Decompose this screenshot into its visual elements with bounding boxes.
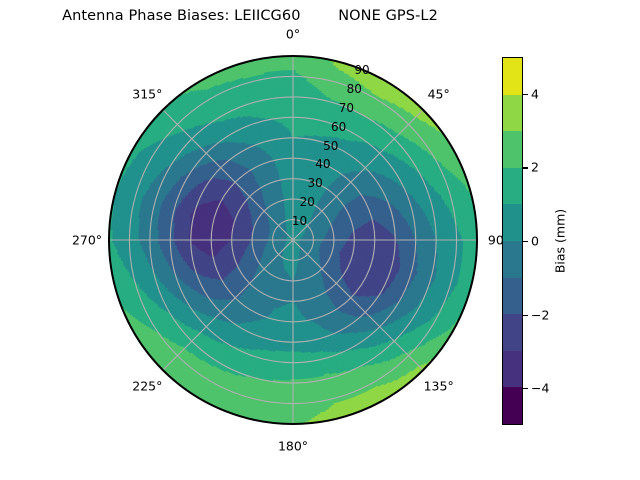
- radial-tick-40: 40: [315, 157, 330, 171]
- colorbar-band: [503, 351, 522, 388]
- colorbar-ticklabel: −2: [531, 307, 549, 322]
- angular-tick-180: 180°: [278, 439, 308, 454]
- colorbar-band: [503, 204, 522, 241]
- colorbar-band: [503, 95, 522, 132]
- angular-tick-0: 0°: [286, 27, 300, 42]
- radial-tick-60: 60: [331, 120, 346, 134]
- polar-contour-svg: [108, 55, 478, 425]
- angular-tick-315: 315°: [132, 87, 162, 102]
- radial-tick-90: 90: [354, 63, 369, 77]
- colorbar-band: [503, 314, 522, 351]
- colorbar-tickmark: [523, 388, 528, 389]
- polar-grid-layer: [109, 56, 477, 424]
- colorbar-label: Bias (mm): [553, 209, 568, 273]
- radial-tick-30: 30: [307, 176, 322, 190]
- radial-tick-50: 50: [323, 139, 338, 153]
- radial-tick-70: 70: [339, 101, 354, 115]
- colorbar-tickmark: [523, 315, 528, 316]
- colorbar-band: [503, 131, 522, 168]
- colorbar-ticklabel: 0: [531, 234, 539, 249]
- angular-tick-135: 135°: [424, 378, 454, 393]
- colorbar: [502, 57, 523, 425]
- colorbar-band: [503, 241, 522, 278]
- angular-tick-225: 225°: [132, 378, 162, 393]
- colorbar-band: [503, 387, 522, 424]
- colorbar-ticklabel: 4: [531, 86, 539, 101]
- colorbar-tickmark: [523, 241, 528, 242]
- colorbar-ticklabel: 2: [531, 160, 539, 175]
- page-title: Antenna Phase Biases: LEIICG60 NONE GPS-…: [0, 8, 500, 24]
- colorbar-band: [503, 278, 522, 315]
- colorbar-band: [503, 58, 522, 95]
- radial-tick-10: 10: [292, 214, 307, 228]
- colorbar-tickmark: [523, 94, 528, 95]
- polar-axes: 102030405060708090: [108, 55, 478, 425]
- angular-tick-45: 45°: [428, 87, 450, 102]
- colorbar-ticklabel: −4: [531, 381, 549, 396]
- radial-tick-80: 80: [347, 82, 362, 96]
- colorbar-band: [503, 168, 522, 205]
- radial-tick-20: 20: [300, 195, 315, 209]
- figure-canvas: Antenna Phase Biases: LEIICG60 NONE GPS-…: [0, 0, 640, 480]
- colorbar-tickmark: [523, 167, 528, 168]
- angular-tick-270: 270°: [72, 233, 102, 248]
